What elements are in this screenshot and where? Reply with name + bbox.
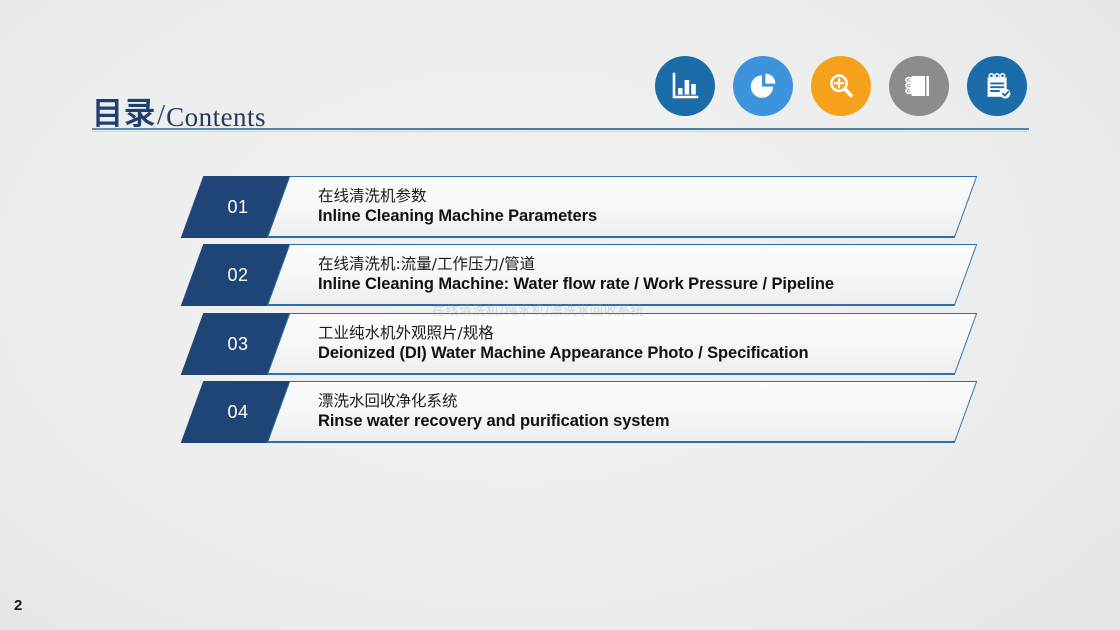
list-item[interactable]: 02 在线清洗机:流量/工作压力/管道 Inline Cleaning Mach…: [192, 244, 967, 306]
item-title-en: Inline Cleaning Machine: Water flow rate…: [318, 274, 834, 295]
item-title-cn: 在线清洗机参数: [318, 187, 597, 206]
list-item[interactable]: 03 工业纯水机外观照片/规格 Deionized (DI) Water Mac…: [192, 313, 967, 375]
item-title-en: Rinse water recovery and purification sy…: [318, 411, 669, 432]
list-item[interactable]: 04 漂洗水回收净化系统 Rinse water recovery and pu…: [192, 381, 967, 443]
item-text: 在线清洗机参数 Inline Cleaning Machine Paramete…: [318, 176, 597, 238]
item-text: 漂洗水回收净化系统 Rinse water recovery and purif…: [318, 381, 669, 443]
slide-canvas: 目录 / Contents: [0, 0, 1120, 630]
watermark-text: 在线清洗机/纯水机/漂洗水回收系统: [432, 300, 644, 319]
item-title-en: Deionized (DI) Water Machine Appearance …: [318, 343, 809, 364]
item-text: 在线清洗机:流量/工作压力/管道 Inline Cleaning Machine…: [318, 244, 834, 306]
page-number: 2: [14, 597, 22, 614]
item-title-en: Inline Cleaning Machine Parameters: [318, 206, 597, 227]
item-text: 工业纯水机外观照片/规格 Deionized (DI) Water Machin…: [318, 313, 809, 375]
item-title-cn: 漂洗水回收净化系统: [318, 392, 669, 411]
list-item[interactable]: 01 在线清洗机参数 Inline Cleaning Machine Param…: [192, 176, 967, 238]
item-title-cn: 工业纯水机外观照片/规格: [318, 324, 809, 343]
item-title-cn: 在线清洗机:流量/工作压力/管道: [318, 255, 834, 274]
